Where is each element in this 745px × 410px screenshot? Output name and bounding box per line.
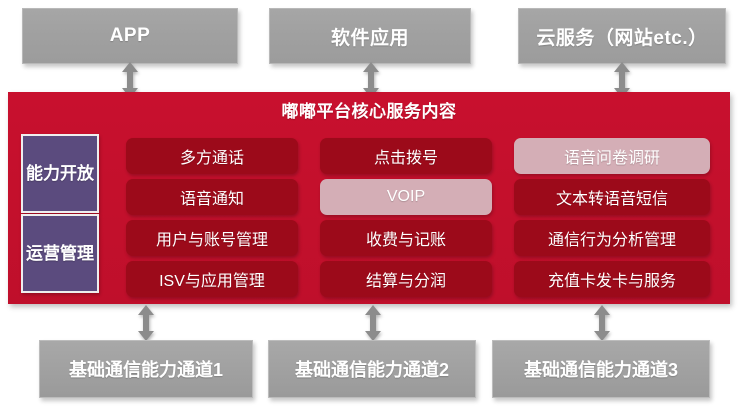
service-item-label: 结算与分润 xyxy=(366,267,446,291)
service-item-highlighted: 语音问卷调研 xyxy=(514,138,710,174)
top-box-software-application: 软件应用 xyxy=(269,8,471,64)
service-item-label: 用户与账号管理 xyxy=(156,226,268,250)
service-item-label: 文本转语音短信 xyxy=(556,185,668,209)
service-item: 通信行为分析管理 xyxy=(514,220,710,256)
bottom-box-channel-3: 基础通信能力通道3 xyxy=(492,340,710,398)
top-box-label: APP xyxy=(110,25,151,47)
service-item-label: 语音通知 xyxy=(180,185,244,209)
core-panel-title: 嘟嘟平台核心服务内容 xyxy=(8,97,730,122)
top-box-cloud-service: 云服务（网站etc.） xyxy=(518,8,726,64)
bottom-box-channel-2: 基础通信能力通道2 xyxy=(268,340,476,398)
service-item-label: 点击拨号 xyxy=(374,144,438,168)
service-item: 点击拨号 xyxy=(320,138,492,174)
service-item: 收费与记账 xyxy=(320,220,492,256)
service-item: 用户与账号管理 xyxy=(126,220,298,256)
bottom-box-channel-1: 基础通信能力通道1 xyxy=(39,340,253,398)
service-item-highlighted: VOIP xyxy=(320,179,492,215)
bottom-box-label: 基础通信能力通道2 xyxy=(295,356,449,382)
top-box-app: APP xyxy=(22,8,238,64)
service-item-label: VOIP xyxy=(387,188,425,206)
service-item: 充值卡发卡与服务 xyxy=(514,261,710,297)
service-item-label: ISV与应用管理 xyxy=(159,267,265,291)
service-item-label: 多方通话 xyxy=(180,144,244,168)
service-item: 语音通知 xyxy=(126,179,298,215)
side-category-operations-management: 运营管理 xyxy=(21,214,99,293)
top-box-label: 软件应用 xyxy=(331,23,409,50)
service-item-label: 通信行为分析管理 xyxy=(548,226,676,250)
double-arrow-vertical-icon xyxy=(135,305,157,341)
service-item-label: 语音问卷调研 xyxy=(564,144,660,168)
service-item-label: 收费与记账 xyxy=(366,226,446,250)
side-category-label: 能力开放 xyxy=(26,164,94,184)
bottom-box-label: 基础通信能力通道3 xyxy=(524,356,678,382)
side-category-label: 运营管理 xyxy=(26,244,94,264)
service-item: 结算与分润 xyxy=(320,261,492,297)
bottom-box-label: 基础通信能力通道1 xyxy=(69,356,223,382)
service-item-label: 充值卡发卡与服务 xyxy=(548,267,676,291)
double-arrow-vertical-icon xyxy=(362,305,384,341)
core-services-panel: 嘟嘟平台核心服务内容 能力开放 运营管理 多方通话 语音通知 用户与账号管理 I… xyxy=(8,92,730,304)
side-category-capability-opening: 能力开放 xyxy=(21,134,99,213)
service-item: ISV与应用管理 xyxy=(126,261,298,297)
double-arrow-vertical-icon xyxy=(591,305,613,341)
service-item: 多方通话 xyxy=(126,138,298,174)
top-box-label: 云服务（网站etc.） xyxy=(536,23,707,50)
service-item: 文本转语音短信 xyxy=(514,179,710,215)
